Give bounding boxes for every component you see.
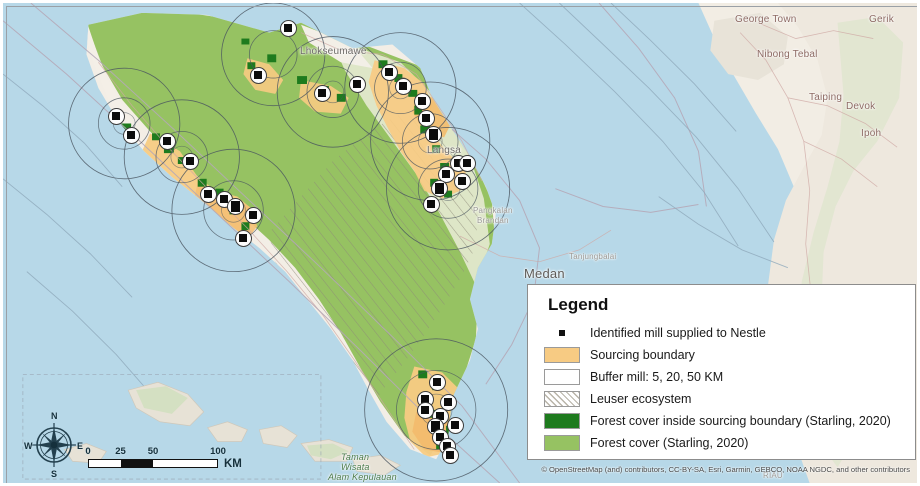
legend-label: Forest cover (Starling, 2020) xyxy=(590,436,748,450)
compass-west-label: W xyxy=(24,441,33,451)
legend-label: Sourcing boundary xyxy=(590,348,695,362)
mill-marker[interactable] xyxy=(429,374,446,391)
mill-marker[interactable] xyxy=(159,133,176,150)
legend-swatch-wrap xyxy=(540,347,584,363)
legend-title: Legend xyxy=(548,295,903,315)
legend-swatch-leuser-hatch xyxy=(544,391,580,407)
compass-south-label: S xyxy=(51,469,57,479)
legend-label: Identified mill supplied to Nestle xyxy=(590,326,766,340)
scale-bar-segments xyxy=(88,459,218,468)
legend-row[interactable]: Forest cover (Starling, 2020) xyxy=(540,432,903,454)
legend-swatch-buffer-outline xyxy=(544,369,580,385)
legend-rows: Identified mill supplied to NestleSourci… xyxy=(540,322,903,454)
mill-marker[interactable] xyxy=(442,447,459,464)
mill-marker[interactable] xyxy=(108,108,125,125)
mill-marker[interactable] xyxy=(280,20,297,37)
legend-swatch-wrap xyxy=(540,413,584,429)
scale-tick: 0 xyxy=(85,446,90,457)
mill-marker[interactable] xyxy=(454,173,471,190)
mill-marker[interactable] xyxy=(235,230,252,247)
legend-panel[interactable]: Legend Identified mill supplied to Nestl… xyxy=(527,284,916,460)
legend-row[interactable]: Leuser ecosystem xyxy=(540,388,903,410)
legend-label: Forest cover inside sourcing boundary (S… xyxy=(590,414,891,428)
compass-rose: N E S W xyxy=(24,411,84,479)
mill-marker[interactable] xyxy=(245,207,262,224)
legend-swatch-forest-fill xyxy=(544,435,580,451)
mill-marker[interactable] xyxy=(250,67,267,84)
legend-row[interactable]: Forest cover inside sourcing boundary (S… xyxy=(540,410,903,432)
legend-row[interactable]: Sourcing boundary xyxy=(540,344,903,366)
compass-east-label: E xyxy=(77,441,83,451)
compass-north-label: N xyxy=(51,411,58,421)
mill-marker[interactable] xyxy=(414,93,431,110)
mill-marker[interactable] xyxy=(459,155,476,172)
legend-swatch-wrap xyxy=(540,435,584,451)
scale-tick: 25 xyxy=(115,446,126,457)
mill-marker[interactable] xyxy=(423,196,440,213)
legend-swatch-wrap xyxy=(540,330,584,336)
legend-swatch-wrap xyxy=(540,391,584,407)
legend-swatch-wrap xyxy=(540,369,584,385)
mill-marker[interactable] xyxy=(417,402,434,419)
scale-segment-0-25 xyxy=(89,460,121,467)
legend-label: Buffer mill: 5, 20, 50 KM xyxy=(590,370,723,384)
scale-bar: 02550100 KM xyxy=(88,446,218,468)
legend-swatch-sourcing-fill xyxy=(544,347,580,363)
scale-tick-labels: 02550100 xyxy=(88,446,218,459)
mill-marker[interactable] xyxy=(425,126,442,143)
scale-unit-label: KM xyxy=(224,458,242,470)
mill-marker[interactable] xyxy=(395,78,412,95)
legend-swatch-mill-marker-dot xyxy=(559,330,565,336)
map-canvas[interactable]: LhokseumaweLangsaPangkalanBrandanMedanTa… xyxy=(0,0,920,486)
mill-marker[interactable] xyxy=(381,64,398,81)
legend-label: Leuser ecosystem xyxy=(590,392,691,406)
mill-marker[interactable] xyxy=(200,186,217,203)
legend-row[interactable]: Buffer mill: 5, 20, 50 KM xyxy=(540,366,903,388)
scale-segment-25-50 xyxy=(121,460,153,467)
mill-marker[interactable] xyxy=(447,417,464,434)
legend-swatch-forest-inside-fill xyxy=(544,413,580,429)
mill-marker[interactable] xyxy=(314,85,331,102)
scale-segment-50-100 xyxy=(153,460,217,467)
mill-marker[interactable] xyxy=(123,127,140,144)
mill-marker[interactable] xyxy=(431,180,448,197)
mill-marker[interactable] xyxy=(182,153,199,170)
scale-tick: 100 xyxy=(210,446,226,457)
map-attribution: © OpenStreetMap (and) contributors, CC-B… xyxy=(541,465,910,474)
mill-marker[interactable] xyxy=(418,110,435,127)
legend-row[interactable]: Identified mill supplied to Nestle xyxy=(540,322,903,344)
scale-tick: 50 xyxy=(148,446,159,457)
mill-marker[interactable] xyxy=(349,76,366,93)
mill-marker[interactable] xyxy=(227,198,244,215)
